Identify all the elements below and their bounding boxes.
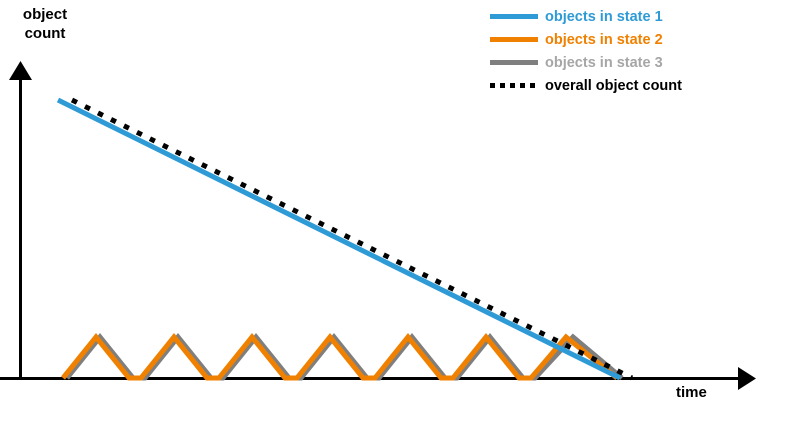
line-swatch-icon — [486, 28, 538, 51]
y-axis-label: object count — [8, 6, 82, 44]
chart-legend: objects in state 1objects in state 2obje… — [486, 5, 786, 97]
x-axis-arrowhead-icon — [738, 367, 756, 390]
legend-item-label: objects in state 1 — [545, 9, 663, 25]
series-line-objects-in-state-1 — [58, 100, 620, 378]
legend-item-label: overall object count — [545, 78, 682, 94]
y-axis-arrowhead-icon — [9, 61, 32, 80]
y-axis — [9, 61, 32, 380]
series-line-overall-object-count — [72, 100, 632, 378]
line-swatch-icon — [486, 51, 538, 74]
chart-canvas: object count time objects in state 1obje… — [0, 0, 803, 438]
legend-item[interactable]: objects in state 1 — [486, 5, 786, 28]
legend-item-label: objects in state 3 — [545, 55, 663, 71]
x-axis-label: time — [676, 384, 707, 403]
line-swatch-icon — [486, 5, 538, 28]
legend-item[interactable]: overall object count — [486, 74, 786, 97]
dotted-line-swatch-icon — [486, 74, 538, 97]
legend-item[interactable]: objects in state 2 — [486, 28, 786, 51]
legend-item[interactable]: objects in state 3 — [486, 51, 786, 74]
legend-item-label: objects in state 2 — [545, 32, 663, 48]
